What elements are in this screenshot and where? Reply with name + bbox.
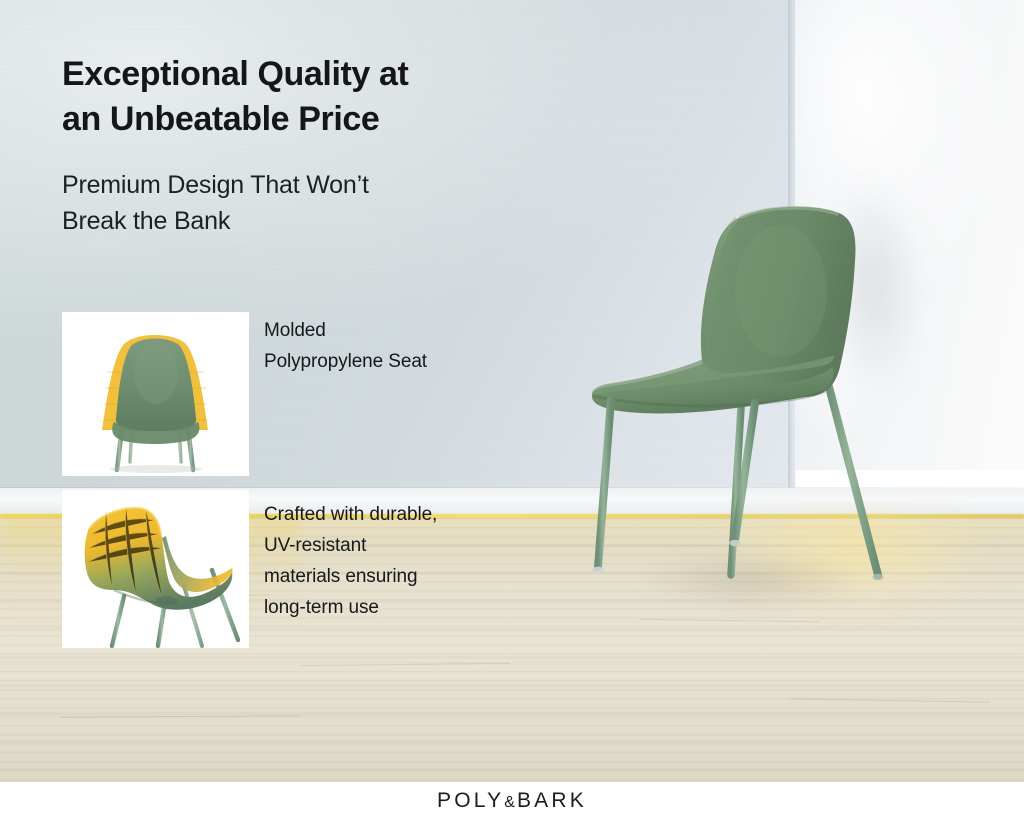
chair-foot-cap — [873, 574, 884, 580]
feature-2-line-2: UV-resistant — [264, 531, 519, 562]
headline-line-1: Exceptional Quality at — [62, 52, 532, 97]
product-chair — [585, 195, 925, 595]
feature-1-line-1: Molded — [264, 316, 514, 347]
marketing-banner: Exceptional Quality at an Unbeatable Pri… — [0, 0, 1024, 820]
feature-label-1: Molded Polypropylene Seat — [264, 316, 514, 378]
feature-2-line-1: Crafted with durable, — [264, 500, 519, 531]
page-subtitle: Premium Design That Won’t Break the Bank — [62, 168, 502, 239]
page-title: Exceptional Quality at an Unbeatable Pri… — [62, 52, 532, 142]
brand-logo: POLY & BARK — [437, 789, 587, 813]
subheadline-line-2: Break the Bank — [62, 204, 502, 240]
feature-thumbnail-card-2 — [62, 490, 249, 648]
chair-leg-back-right — [828, 383, 878, 575]
chair-shell — [592, 207, 856, 414]
brand-name-part-2: BARK — [517, 789, 587, 813]
feature-1-line-2: Polypropylene Seat — [264, 347, 514, 378]
footer-bar: POLY & BARK — [0, 782, 1024, 820]
chair-leg-front-left — [592, 400, 611, 573]
brand-ampersand: & — [504, 794, 517, 812]
feature-thumbnail-card-1 — [62, 312, 249, 476]
brand-name-part-1: POLY — [437, 789, 504, 813]
feature-2-line-3: materials ensuring — [264, 562, 519, 593]
subheadline-line-1: Premium Design That Won’t — [62, 168, 502, 204]
feature-label-2: Crafted with durable, UV-resistant mater… — [264, 500, 519, 624]
feature-2-line-4: long-term use — [264, 593, 519, 624]
headline-line-2: an Unbeatable Price — [62, 97, 532, 142]
